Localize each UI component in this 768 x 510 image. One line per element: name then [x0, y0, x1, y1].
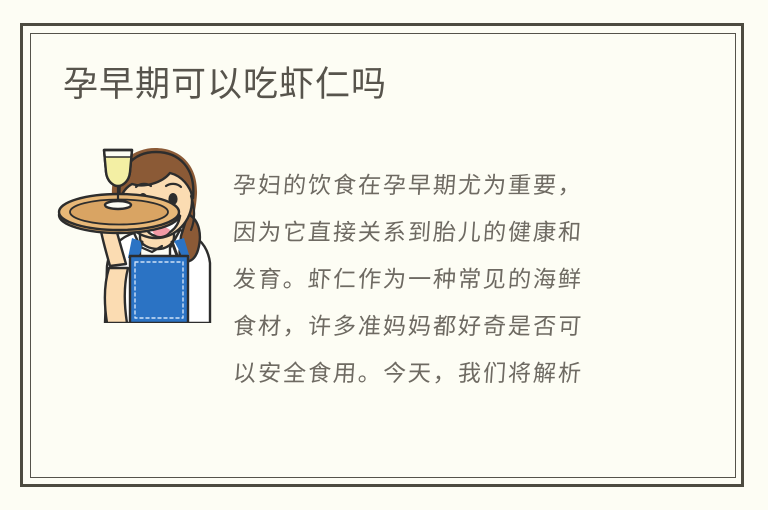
page-root: 孕早期可以吃虾仁吗 [0, 0, 768, 510]
body-line: 因为它直接关系到胎儿的健康和 [231, 210, 654, 257]
waitress-with-tray-illustration [52, 138, 217, 323]
page-title: 孕早期可以吃虾仁吗 [63, 62, 387, 108]
body-line: 以安全食用。今天，我们将解析 [231, 351, 654, 398]
article-body: 孕妇的饮食在孕早期尤为重要， 因为它直接关系到胎儿的健康和 发育。虾仁作为一种常… [233, 163, 653, 398]
body-line: 发育。虾仁作为一种常见的海鲜 [231, 257, 654, 304]
body-line: 食材，许多准妈妈都好奇是否可 [231, 304, 654, 351]
body-line: 孕妇的饮食在孕早期尤为重要， [231, 163, 654, 210]
